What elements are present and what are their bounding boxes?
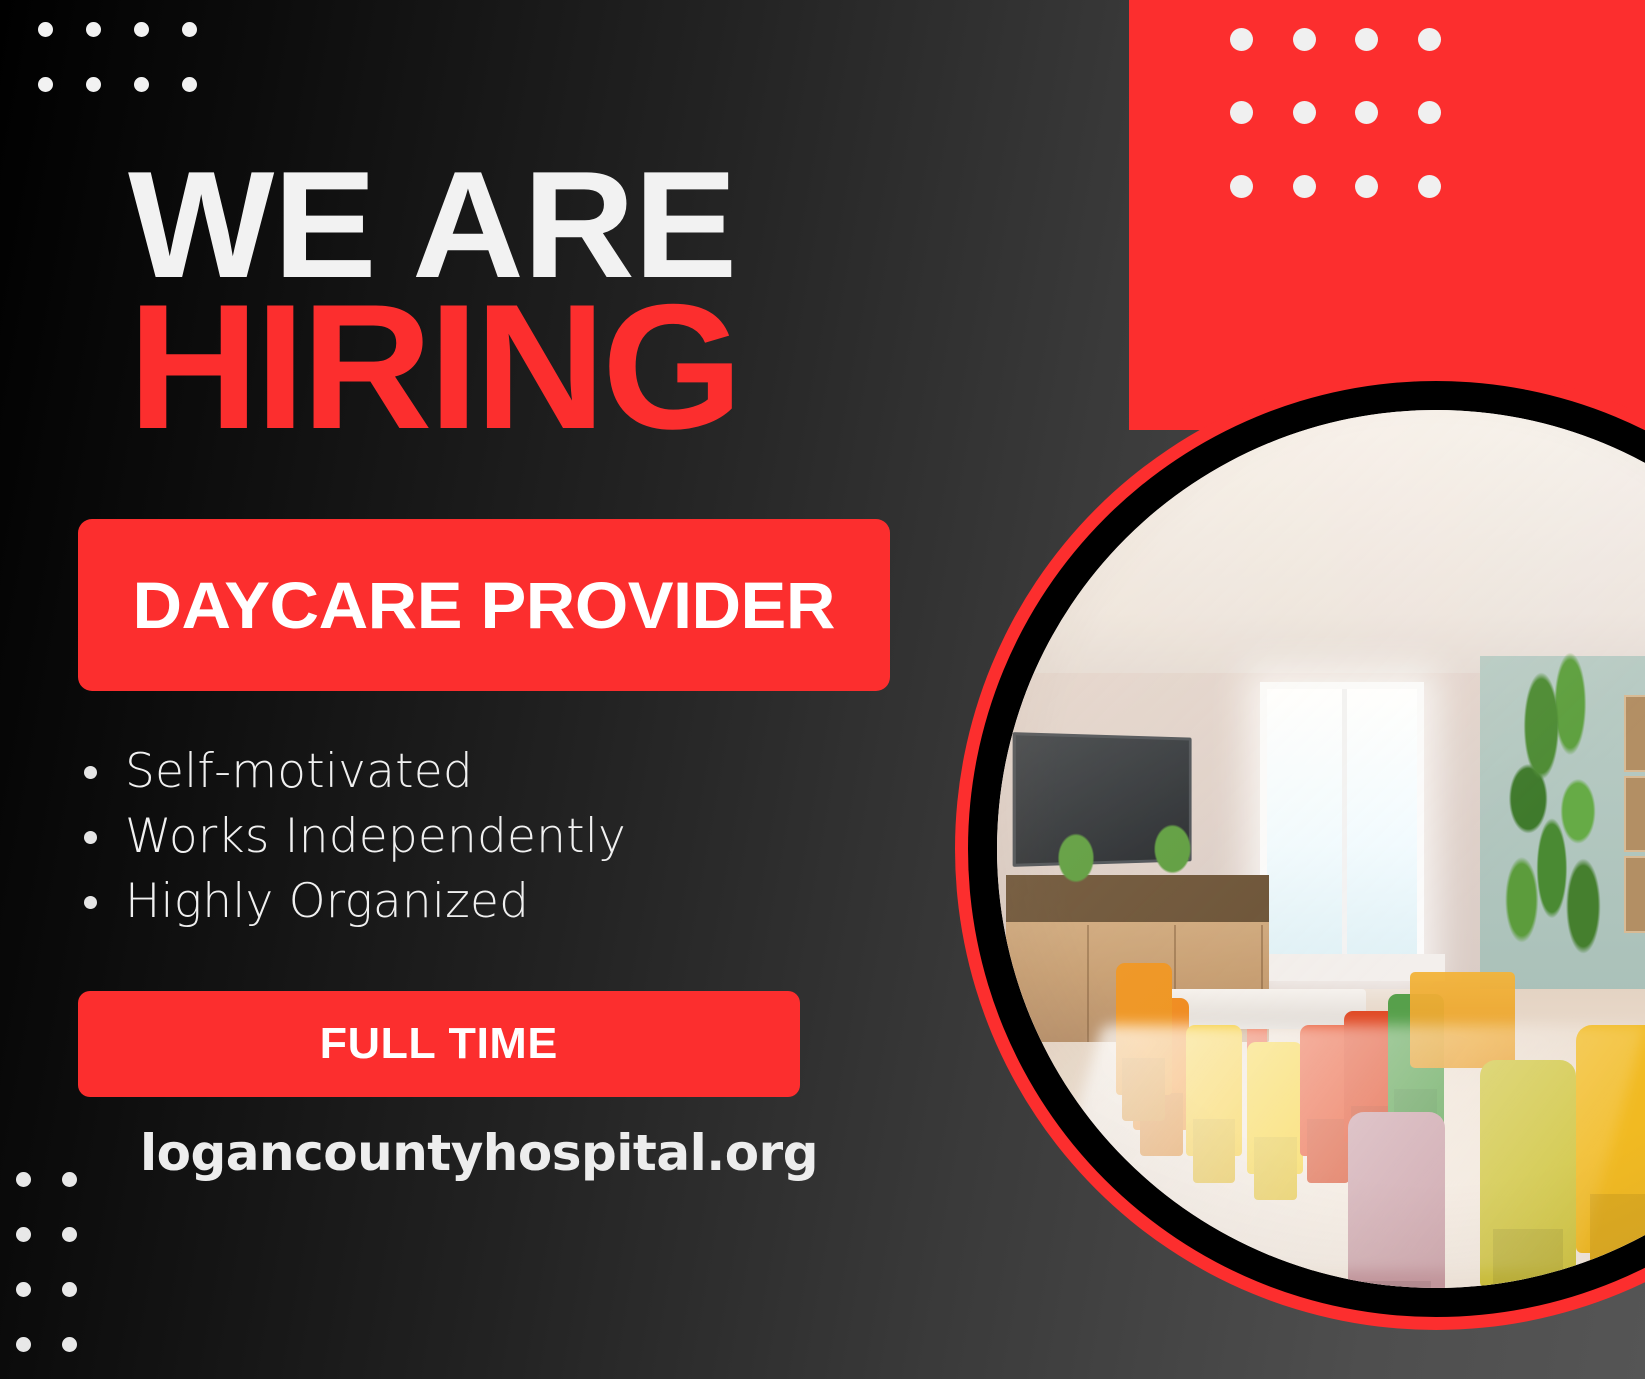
dot — [1230, 28, 1253, 51]
dot — [1293, 175, 1316, 198]
dot — [16, 1172, 31, 1187]
dot — [134, 77, 149, 92]
hiring-poster: WE ARE HIRING DAYCARE PROVIDER Self-moti… — [0, 0, 1645, 1379]
dot — [1293, 28, 1316, 51]
dot — [182, 77, 197, 92]
job-title-banner: DAYCARE PROVIDER — [78, 519, 890, 691]
bullet-dot-icon — [84, 896, 97, 909]
top-left-dot-grid — [38, 22, 198, 100]
full-time-button[interactable]: FULL TIME — [78, 991, 800, 1097]
dot — [182, 22, 197, 37]
bullet-dot-icon — [84, 766, 97, 779]
daycare-classroom-photo — [997, 410, 1645, 1288]
dot — [1355, 28, 1378, 51]
requirements-list: Self-motivated Works Independently Highl… — [78, 740, 878, 935]
requirement-label: Self-motivated — [125, 740, 473, 805]
dot — [134, 22, 149, 37]
classroom-scene — [997, 410, 1645, 1288]
dot — [1230, 101, 1253, 124]
dot — [86, 77, 101, 92]
dot — [1230, 175, 1253, 198]
requirement-label: Highly Organized — [125, 870, 529, 935]
list-item: Self-motivated — [78, 740, 878, 805]
vignette-overlay — [997, 410, 1645, 1288]
full-time-label: FULL TIME — [320, 1019, 558, 1069]
circular-photo-frame — [955, 368, 1645, 1330]
page-title: WE ARE HIRING — [128, 152, 908, 454]
job-title-text: DAYCARE PROVIDER — [133, 567, 835, 643]
bullet-dot-icon — [84, 831, 97, 844]
website-url[interactable]: logancountyhospital.org — [140, 1124, 818, 1182]
dot — [38, 77, 53, 92]
dot — [38, 22, 53, 37]
dot — [1355, 175, 1378, 198]
dot — [62, 1227, 77, 1242]
dot — [62, 1172, 77, 1187]
dot — [16, 1227, 31, 1242]
headline-hiring: HIRING — [128, 281, 924, 454]
list-item: Works Independently — [78, 805, 878, 870]
bottom-left-dot-grid — [16, 1172, 96, 1362]
dot — [62, 1282, 77, 1297]
dot — [16, 1337, 31, 1352]
dot — [1418, 28, 1441, 51]
dot — [16, 1282, 31, 1297]
dot — [1355, 101, 1378, 124]
requirement-label: Works Independently — [125, 805, 626, 870]
dot — [1418, 175, 1441, 198]
dot — [1418, 101, 1441, 124]
list-item: Highly Organized — [78, 870, 878, 935]
top-right-dot-grid — [1230, 28, 1480, 248]
dot — [1293, 101, 1316, 124]
dot — [62, 1337, 77, 1352]
dot — [86, 22, 101, 37]
